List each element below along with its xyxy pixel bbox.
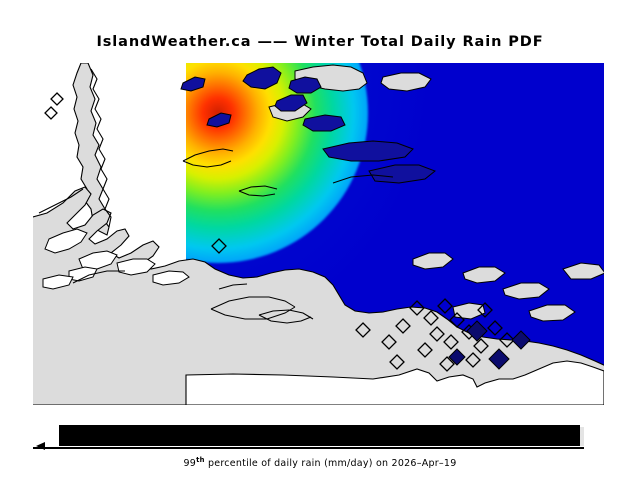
caption-text: percentile of daily rain (mm/day) on 202… — [205, 458, 457, 469]
coastline-layer — [33, 63, 604, 405]
colorbar-axis-line — [33, 447, 584, 449]
islands-southeast-grey — [413, 253, 604, 321]
colorbar-arrow-icon — [36, 442, 45, 450]
caption-percentile-number: 99 — [183, 458, 196, 469]
colorbar-edge — [580, 427, 584, 446]
colorbar-gradient[interactable] — [59, 425, 580, 446]
offshore-islands-grey — [269, 65, 431, 121]
map-plot-area[interactable] — [33, 63, 604, 405]
page-title: IslandWeather.ca —— Winter Total Daily R… — [0, 34, 640, 50]
colorbar-container[interactable] — [59, 425, 584, 447]
caption-ordinal-suffix: th — [196, 456, 205, 464]
colorbar-caption: 99th percentile of daily rain (mm/day) o… — [0, 458, 640, 469]
